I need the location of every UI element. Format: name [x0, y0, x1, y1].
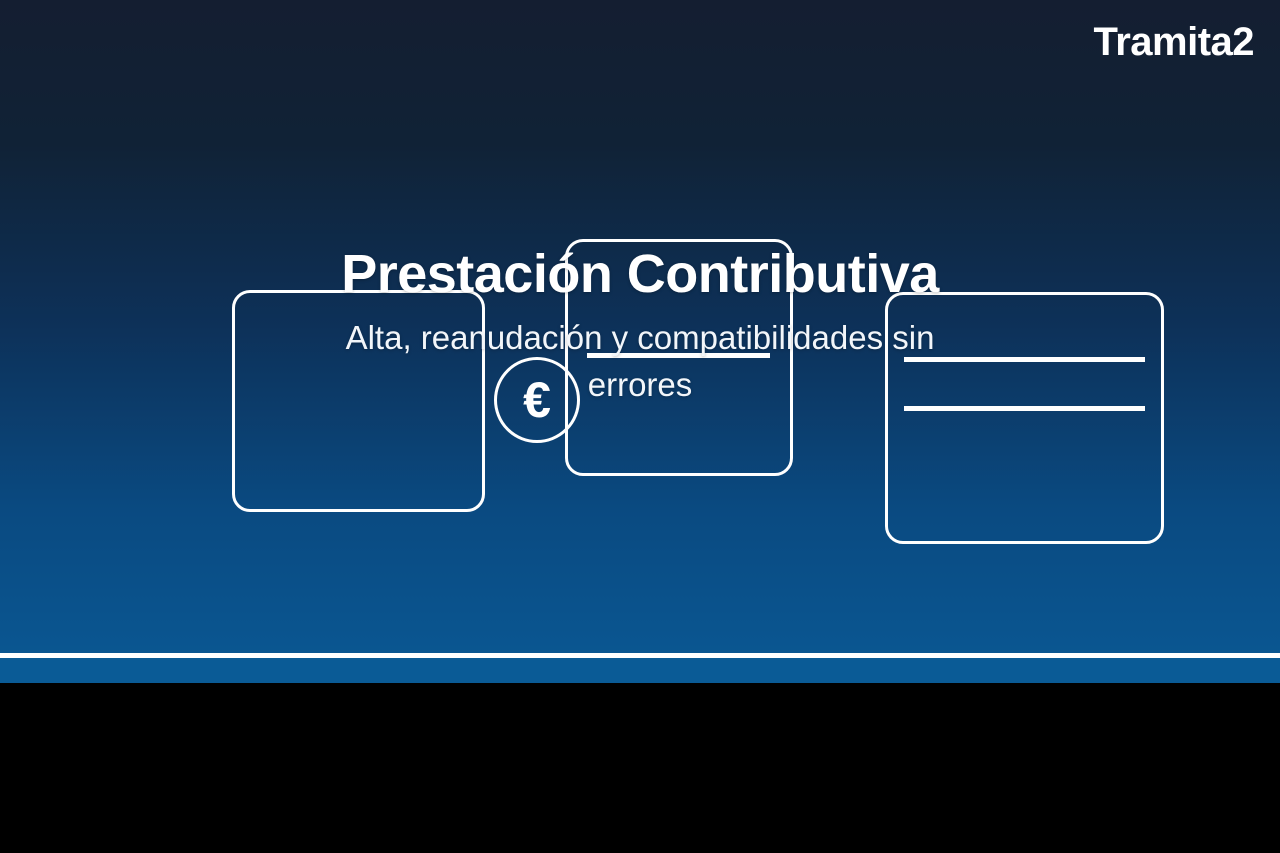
bottom-accent-bar: [0, 658, 1280, 683]
page-subtitle: Alta, reanudación y compatibilidades sin…: [330, 315, 950, 409]
hero-text-block: Prestación Contributiva Alta, reanudació…: [0, 0, 1280, 653]
slide-root: € Tramita2 Prestación Contributiva Alta,…: [0, 0, 1280, 853]
page-title: Prestación Contributiva: [301, 244, 979, 304]
hero-stage: € Tramita2 Prestación Contributiva Alta,…: [0, 0, 1280, 653]
letterbox-area: [0, 683, 1280, 853]
